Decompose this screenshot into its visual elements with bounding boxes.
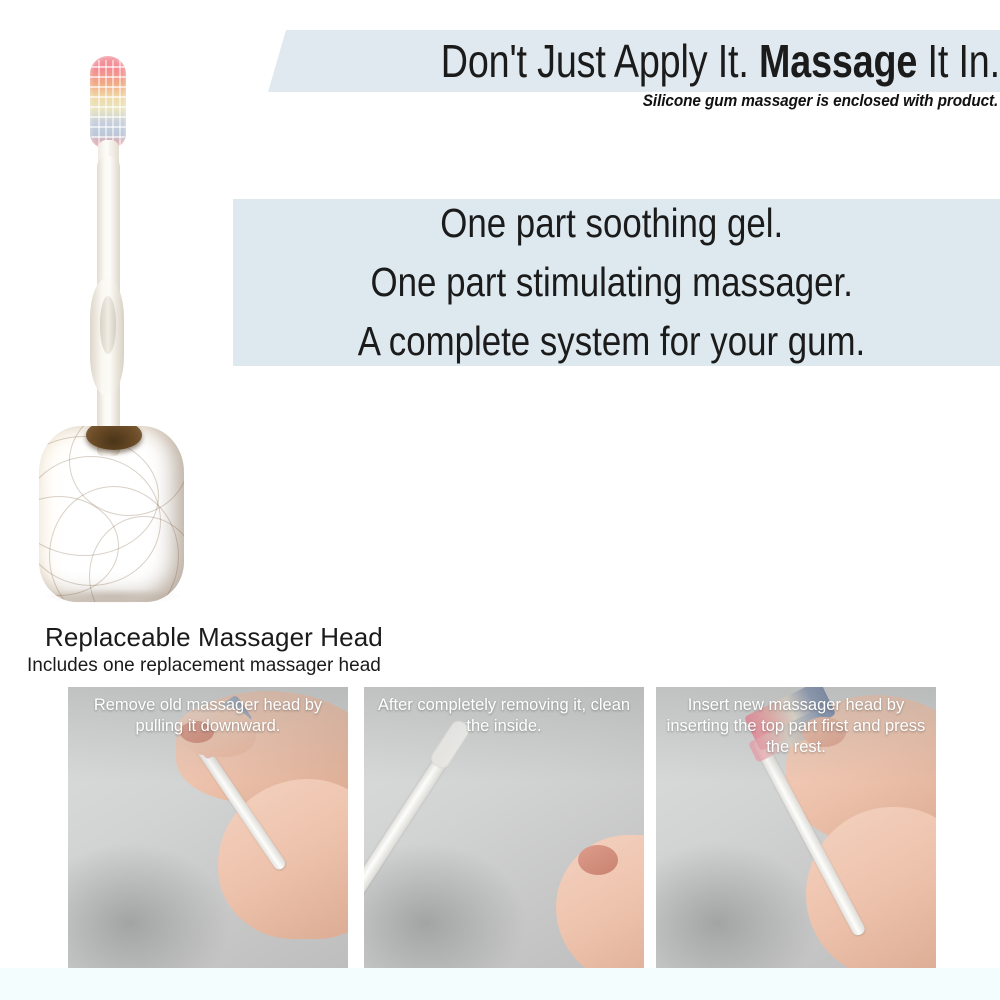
- step-3-caption: Insert new massager head by inserting th…: [664, 695, 928, 758]
- headline-subtext: Silicone gum massager is enclosed with p…: [643, 92, 998, 111]
- benefit-line-2: One part stimulating massager.: [370, 253, 852, 312]
- brush-handle-dimple: [100, 296, 116, 354]
- benefit-line-3: A complete system for your gum.: [358, 312, 865, 371]
- step-1-caption: Remove old massager head by pulling it d…: [76, 695, 340, 737]
- step-panel-2: After completely removing it, clean the …: [364, 687, 644, 968]
- wood-grain: [39, 426, 184, 602]
- step-2-caption: After completely removing it, clean the …: [372, 695, 636, 737]
- fingernail: [578, 845, 618, 875]
- bottom-strip: [0, 968, 1000, 1000]
- page-headline: Don't Just Apply It. Massage It In.: [300, 28, 1000, 94]
- section-title: Replaceable Massager Head: [45, 622, 383, 653]
- step-panels: Remove old massager head by pulling it d…: [68, 687, 930, 968]
- section-subtitle: Includes one replacement massager head: [27, 655, 381, 677]
- benefit-line-1: One part soothing gel.: [440, 194, 783, 253]
- headline-text-lead: Don't Just Apply It.: [441, 35, 759, 87]
- step-panel-1: Remove old massager head by pulling it d…: [68, 687, 348, 968]
- benefits-text-block: One part soothing gel. One part stimulat…: [233, 196, 990, 368]
- holder-shadow: [42, 588, 182, 604]
- brush-head-bristles: [90, 56, 126, 148]
- wooden-holder: [39, 426, 184, 602]
- headline-text-emphasis: Massage: [759, 35, 917, 87]
- product-hero-image: [18, 28, 218, 593]
- bristle-rows: [90, 56, 126, 148]
- headline-text-tail: It In.: [917, 35, 1000, 87]
- step-panel-3: Insert new massager head by inserting th…: [656, 687, 936, 968]
